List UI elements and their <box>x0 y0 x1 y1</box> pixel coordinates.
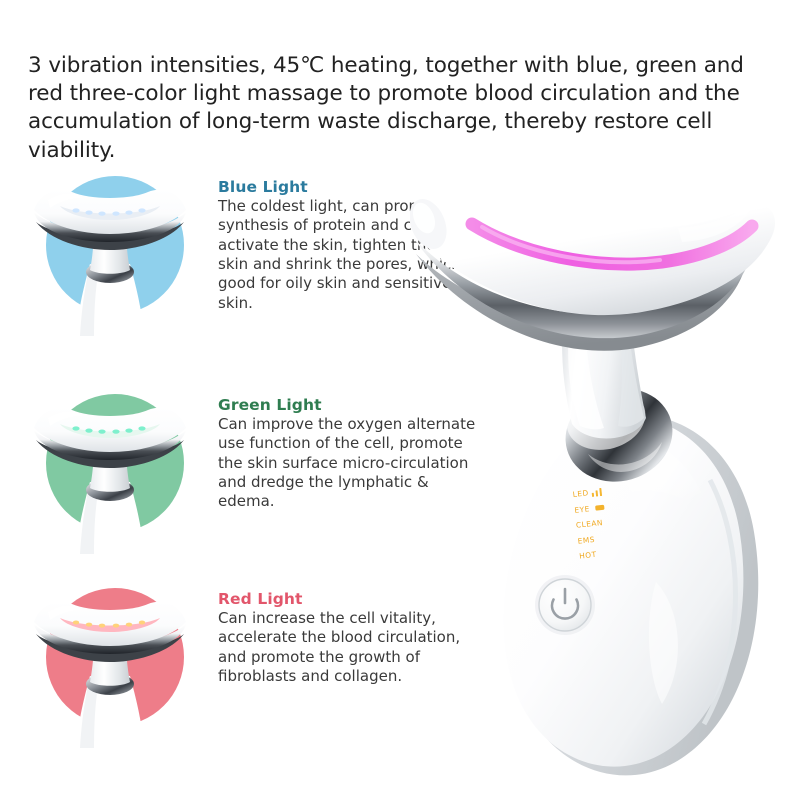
thumbnail-red-light <box>20 580 200 760</box>
device-control-panel: LED EYE CLEAN EMS HOT <box>572 478 670 564</box>
panel-label-eye: EYE <box>574 504 590 515</box>
mini-device-red <box>20 580 200 760</box>
mini-device-blue <box>20 168 200 348</box>
power-button[interactable] <box>535 575 595 635</box>
eye-mode-icon <box>595 504 605 510</box>
thumbnail-blue-light <box>20 168 200 348</box>
panel-label-clean: CLEAN <box>576 518 604 530</box>
panel-label-ems: EMS <box>577 535 595 546</box>
panel-label-led: LED <box>572 489 589 500</box>
intro-paragraph: 3 vibration intensities, 45℃ heating, to… <box>28 52 770 166</box>
device-head <box>410 191 775 350</box>
thumbnail-green-light <box>20 386 200 566</box>
panel-label-hot: HOT <box>579 550 597 561</box>
led-level-bars-icon <box>591 488 602 497</box>
infographic-page: 3 vibration intensities, 45℃ heating, to… <box>0 0 800 800</box>
mini-device-green <box>20 386 200 566</box>
